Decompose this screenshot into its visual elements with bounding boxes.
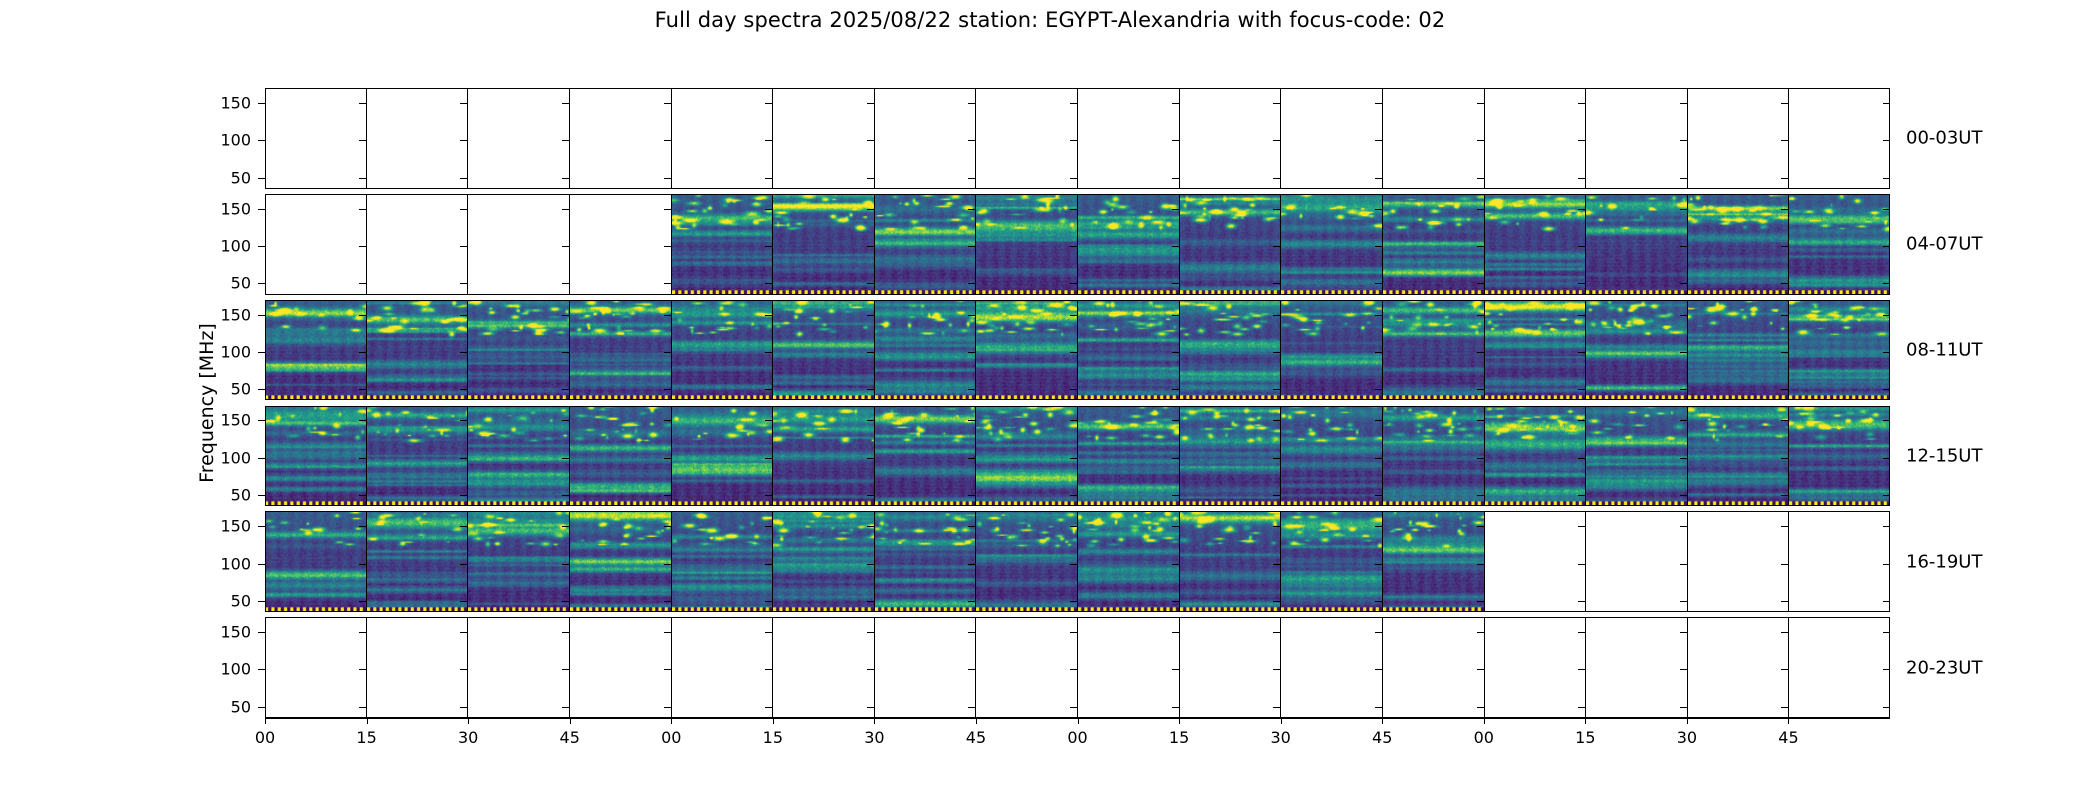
y-tick-mark — [1578, 389, 1585, 390]
y-tick-mark — [1477, 352, 1484, 353]
y-tick-mark — [359, 315, 366, 316]
spectra-panel[interactable] — [1383, 406, 1485, 507]
y-tick-label: 100 — [191, 342, 251, 361]
y-tick-mark — [1172, 601, 1179, 602]
spectra-panel[interactable] — [1281, 300, 1383, 401]
y-tick-mark — [1070, 103, 1077, 104]
y-tick-mark — [562, 140, 569, 141]
y-tick-mark — [562, 209, 569, 210]
y-tick-mark — [1578, 315, 1585, 316]
y-tick-label: 50 — [191, 591, 251, 610]
y-tick-mark — [460, 283, 467, 284]
y-tick-label: 150 — [191, 93, 251, 112]
spectra-panel[interactable] — [773, 300, 875, 401]
spectra-panel[interactable] — [265, 511, 367, 612]
spectra-panel[interactable] — [1688, 511, 1790, 612]
y-tick-mark — [258, 140, 265, 141]
y-tick-mark — [1680, 246, 1687, 247]
x-tick-label: 45 — [966, 728, 986, 747]
spectra-panel[interactable] — [672, 511, 774, 612]
y-tick-mark — [1070, 178, 1077, 179]
y-tick-mark — [1070, 632, 1077, 633]
spectra-panel[interactable] — [875, 511, 977, 612]
y-tick-mark — [867, 420, 874, 421]
y-tick-mark — [562, 707, 569, 708]
spectrogram-image — [875, 194, 976, 295]
spectra-panel[interactable] — [1485, 511, 1587, 612]
spectra-panel[interactable] — [773, 511, 875, 612]
spectrogram-image — [773, 300, 874, 401]
y-tick-mark — [1883, 315, 1890, 316]
y-tick-mark — [1273, 601, 1280, 602]
y-tick-mark — [562, 420, 569, 421]
spectra-panel[interactable] — [1383, 511, 1485, 612]
spectra-panel[interactable] — [875, 406, 977, 507]
y-tick-mark — [359, 564, 366, 565]
spectra-panel[interactable] — [976, 617, 1078, 718]
panel-strip — [265, 88, 1890, 189]
y-tick-mark — [460, 707, 467, 708]
y-tick-mark — [460, 458, 467, 459]
y-tick-mark — [258, 209, 265, 210]
y-tick-mark — [1578, 564, 1585, 565]
y-tick-mark — [664, 389, 671, 390]
spectra-panel[interactable] — [570, 406, 672, 507]
y-tick-mark — [1172, 526, 1179, 527]
y-tick-mark — [1070, 707, 1077, 708]
spectra-panel[interactable] — [1180, 511, 1282, 612]
y-tick-mark — [1070, 495, 1077, 496]
spectra-panel[interactable] — [1281, 88, 1383, 189]
y-tick-label: 100 — [191, 131, 251, 150]
spectrogram-image — [672, 511, 773, 612]
spectra-panel[interactable] — [1586, 88, 1688, 189]
y-tick-mark — [359, 140, 366, 141]
y-tick-mark — [968, 140, 975, 141]
spectra-panel[interactable] — [1485, 300, 1587, 401]
y-tick-mark — [1578, 601, 1585, 602]
y-tick-mark — [359, 389, 366, 390]
spectra-panel[interactable] — [468, 300, 570, 401]
y-tick-mark — [258, 389, 265, 390]
spectra-panel[interactable] — [468, 406, 570, 507]
spectra-panel[interactable] — [672, 617, 774, 718]
spectra-panel[interactable] — [773, 88, 875, 189]
y-tick-mark — [258, 632, 265, 633]
x-tick-label: 30 — [458, 728, 478, 747]
y-tick-mark — [664, 526, 671, 527]
y-tick-mark — [1883, 420, 1890, 421]
spectrogram-image — [1383, 511, 1484, 612]
y-tick-mark — [1477, 209, 1484, 210]
spectra-panel[interactable] — [367, 511, 469, 612]
spectra-panel[interactable] — [1383, 194, 1485, 295]
spectra-panel[interactable] — [672, 88, 774, 189]
y-tick-mark — [460, 103, 467, 104]
y-tick-mark — [1273, 178, 1280, 179]
spectra-panel[interactable] — [1586, 300, 1688, 401]
spectra-panel[interactable] — [570, 194, 672, 295]
spectra-panel[interactable] — [1078, 88, 1180, 189]
y-tick-mark — [460, 140, 467, 141]
spectra-panel[interactable] — [468, 617, 570, 718]
y-tick-mark — [1070, 352, 1077, 353]
spectra-panel[interactable] — [976, 88, 1078, 189]
spectra-panel[interactable] — [265, 617, 367, 718]
spectrogram-image — [367, 406, 468, 507]
spectrogram-image — [875, 406, 976, 507]
spectra-row: 15010050 — [265, 406, 1890, 507]
spectra-panel[interactable] — [976, 194, 1078, 295]
spectrogram-image — [367, 511, 468, 612]
y-tick-mark — [359, 420, 366, 421]
spectrogram-image — [468, 300, 569, 401]
spectrogram-image — [773, 406, 874, 507]
y-tick-mark — [1680, 564, 1687, 565]
y-tick-mark — [1781, 352, 1788, 353]
y-tick-mark — [258, 315, 265, 316]
y-tick-mark — [1578, 495, 1585, 496]
spectra-panel[interactable] — [1180, 88, 1282, 189]
y-tick-mark — [968, 103, 975, 104]
spectra-panel[interactable] — [875, 194, 977, 295]
spectra-panel[interactable] — [1383, 300, 1485, 401]
y-tick-mark — [867, 283, 874, 284]
y-tick-mark — [765, 283, 772, 284]
spectra-panel[interactable] — [773, 406, 875, 507]
y-tick-mark — [968, 246, 975, 247]
y-tick-mark — [1477, 283, 1484, 284]
spectra-panel[interactable] — [976, 406, 1078, 507]
spectra-panel[interactable] — [1688, 88, 1790, 189]
y-tick-mark — [968, 526, 975, 527]
spectra-panel[interactable] — [1586, 511, 1688, 612]
y-tick-mark — [1070, 526, 1077, 527]
y-tick-mark — [562, 526, 569, 527]
spectra-panel[interactable] — [1586, 406, 1688, 507]
spectra-panel[interactable] — [1485, 88, 1587, 189]
y-tick-mark — [562, 315, 569, 316]
spectra-panel[interactable] — [570, 617, 672, 718]
spectra-row: 15010050 — [265, 617, 1890, 718]
spectra-panel[interactable] — [468, 511, 570, 612]
spectrogram-image — [976, 300, 1077, 401]
y-tick-mark — [1172, 458, 1179, 459]
y-tick-mark — [359, 283, 366, 284]
y-tick-mark — [562, 352, 569, 353]
y-tick-mark — [258, 564, 265, 565]
row-label-20-23ut: 20-23UT — [1906, 657, 1982, 678]
y-tick-mark — [1477, 632, 1484, 633]
spectrogram-image — [265, 300, 366, 401]
spectra-panel[interactable] — [1078, 617, 1180, 718]
y-tick-mark — [664, 315, 671, 316]
x-tick-label: 00 — [1474, 728, 1494, 747]
spectra-panel[interactable] — [672, 300, 774, 401]
y-tick-label: 150 — [191, 517, 251, 536]
spectra-panel[interactable] — [875, 300, 977, 401]
y-tick-mark — [562, 669, 569, 670]
y-tick-mark — [1375, 246, 1382, 247]
spectra-panel[interactable] — [367, 300, 469, 401]
y-tick-label: 50 — [191, 380, 251, 399]
y-tick-label: 150 — [191, 411, 251, 430]
y-tick-mark — [359, 178, 366, 179]
spectrogram-image — [1078, 300, 1179, 401]
y-tick-mark — [1680, 315, 1687, 316]
y-tick-mark — [460, 209, 467, 210]
y-tick-mark — [562, 283, 569, 284]
spectrogram-image — [570, 511, 671, 612]
spectra-panel[interactable] — [1281, 511, 1383, 612]
y-tick-mark — [1172, 140, 1179, 141]
y-tick-mark — [1578, 420, 1585, 421]
y-tick-mark — [765, 669, 772, 670]
y-tick-mark — [765, 707, 772, 708]
spectra-panel[interactable] — [1789, 300, 1890, 401]
y-tick-label: 150 — [191, 305, 251, 324]
spectra-panel[interactable] — [1281, 617, 1383, 718]
x-tick-mark — [773, 718, 774, 724]
y-tick-mark — [359, 352, 366, 353]
spectra-panel[interactable] — [875, 617, 977, 718]
y-tick-mark — [1781, 178, 1788, 179]
spectra-panel[interactable] — [367, 194, 469, 295]
y-tick-mark — [968, 495, 975, 496]
y-tick-mark — [1680, 420, 1687, 421]
spectra-panel[interactable] — [1180, 406, 1282, 507]
y-tick-mark — [562, 564, 569, 565]
spectra-panel[interactable] — [672, 406, 774, 507]
y-tick-mark — [1578, 246, 1585, 247]
y-tick-mark — [1477, 420, 1484, 421]
spectrogram-image — [1688, 194, 1789, 295]
y-tick-mark — [562, 632, 569, 633]
spectra-panel[interactable] — [1383, 617, 1485, 718]
spectrogram-image — [1383, 406, 1484, 507]
y-tick-mark — [867, 140, 874, 141]
y-tick-mark — [1273, 669, 1280, 670]
y-tick-mark — [765, 389, 772, 390]
y-tick-mark — [1172, 352, 1179, 353]
spectra-panel[interactable] — [1688, 300, 1790, 401]
spectra-panel[interactable] — [1485, 194, 1587, 295]
y-tick-mark — [867, 315, 874, 316]
y-tick-mark — [1781, 315, 1788, 316]
spectra-panel[interactable] — [1789, 511, 1890, 612]
y-tick-mark — [765, 564, 772, 565]
y-tick-mark — [968, 315, 975, 316]
figure-root: Full day spectra 2025/08/22 station: EGY… — [0, 0, 2100, 800]
y-tick-mark — [460, 526, 467, 527]
spectrogram-image — [1078, 194, 1179, 295]
y-tick-mark — [664, 352, 671, 353]
spectra-panel[interactable] — [1789, 406, 1890, 507]
y-tick-mark — [1273, 209, 1280, 210]
x-tick-label: 00 — [661, 728, 681, 747]
spectrogram-image — [1485, 194, 1586, 295]
y-tick-mark — [258, 283, 265, 284]
spectra-panel[interactable] — [1485, 617, 1587, 718]
y-tick-mark — [765, 495, 772, 496]
y-tick-mark — [460, 495, 467, 496]
y-tick-mark — [258, 352, 265, 353]
y-tick-mark — [1680, 707, 1687, 708]
spectra-panel[interactable] — [468, 88, 570, 189]
y-tick-mark — [1883, 526, 1890, 527]
y-tick-mark — [460, 389, 467, 390]
spectra-panel[interactable] — [1688, 406, 1790, 507]
spectrogram-image — [875, 511, 976, 612]
y-tick-mark — [1172, 495, 1179, 496]
y-tick-mark — [1781, 526, 1788, 527]
spectrogram-image — [773, 511, 874, 612]
spectra-panel[interactable] — [1281, 406, 1383, 507]
y-tick-mark — [1375, 178, 1382, 179]
y-tick-mark — [1680, 178, 1687, 179]
spectra-panel[interactable] — [1688, 617, 1790, 718]
spectrogram-image — [773, 194, 874, 295]
x-tick-mark — [976, 718, 977, 724]
spectra-panel[interactable] — [976, 300, 1078, 401]
spectra-panel[interactable] — [265, 88, 367, 189]
y-tick-mark — [1680, 458, 1687, 459]
spectra-panel[interactable] — [1180, 617, 1282, 718]
y-tick-mark — [460, 178, 467, 179]
spectra-panel[interactable] — [1180, 194, 1282, 295]
spectrogram-image — [1688, 406, 1789, 507]
y-tick-mark — [1375, 669, 1382, 670]
x-tick-mark — [1382, 718, 1383, 724]
spectra-panel[interactable] — [570, 511, 672, 612]
y-tick-mark — [1578, 632, 1585, 633]
y-tick-label: 100 — [191, 237, 251, 256]
y-tick-mark — [1883, 495, 1890, 496]
spectra-panel[interactable] — [773, 617, 875, 718]
y-tick-mark — [968, 458, 975, 459]
y-tick-mark — [460, 315, 467, 316]
y-tick-mark — [359, 458, 366, 459]
x-tick-mark — [1078, 718, 1079, 724]
spectra-row: 15010050 — [265, 300, 1890, 401]
y-tick-mark — [664, 140, 671, 141]
x-tick-mark — [1179, 718, 1180, 724]
spectra-panel[interactable] — [1789, 88, 1890, 189]
spectra-panel[interactable] — [875, 88, 977, 189]
y-tick-mark — [1578, 283, 1585, 284]
y-tick-mark — [1070, 140, 1077, 141]
spectra-panel[interactable] — [265, 300, 367, 401]
y-tick-mark — [1273, 458, 1280, 459]
spectrogram-image — [1586, 300, 1687, 401]
y-tick-mark — [968, 669, 975, 670]
spectra-panel[interactable] — [773, 194, 875, 295]
spectra-panel[interactable] — [1586, 617, 1688, 718]
y-tick-mark — [1781, 669, 1788, 670]
spectra-panel[interactable] — [367, 88, 469, 189]
y-tick-mark — [1273, 420, 1280, 421]
y-tick-mark — [359, 601, 366, 602]
spectra-panel[interactable] — [976, 511, 1078, 612]
spectra-panel[interactable] — [265, 406, 367, 507]
spectrogram-image — [468, 406, 569, 507]
spectra-panel[interactable] — [1586, 194, 1688, 295]
y-tick-mark — [867, 209, 874, 210]
y-tick-mark — [1883, 601, 1890, 602]
spectra-panel[interactable] — [1485, 406, 1587, 507]
y-tick-mark — [1680, 209, 1687, 210]
y-tick-mark — [562, 178, 569, 179]
spectra-panel[interactable] — [1688, 194, 1790, 295]
y-tick-mark — [1477, 246, 1484, 247]
y-tick-mark — [1172, 209, 1179, 210]
spectra-panel[interactable] — [265, 194, 367, 295]
spectra-panel[interactable] — [1180, 300, 1282, 401]
spectra-panel[interactable] — [1789, 194, 1890, 295]
spectrogram-image — [976, 406, 1077, 507]
spectrogram-image — [1078, 406, 1179, 507]
y-tick-mark — [1070, 564, 1077, 565]
y-tick-mark — [1477, 707, 1484, 708]
x-tick-mark — [570, 718, 571, 724]
x-tick-label: 15 — [1575, 728, 1595, 747]
spectra-panel[interactable] — [1789, 617, 1890, 718]
x-tick-label: 45 — [1778, 728, 1798, 747]
y-tick-mark — [1578, 352, 1585, 353]
spectra-panel[interactable] — [367, 617, 469, 718]
y-tick-mark — [1680, 389, 1687, 390]
spectra-panel[interactable] — [570, 88, 672, 189]
y-tick-mark — [1781, 140, 1788, 141]
y-tick-mark — [664, 209, 671, 210]
spectra-panel[interactable] — [1078, 300, 1180, 401]
y-tick-mark — [562, 246, 569, 247]
y-tick-mark — [1172, 103, 1179, 104]
spectra-row: 15010050 — [265, 511, 1890, 612]
y-tick-mark — [1375, 283, 1382, 284]
spectrogram-image — [367, 300, 468, 401]
y-tick-mark — [1273, 352, 1280, 353]
spectra-panel[interactable] — [1281, 194, 1383, 295]
y-tick-mark — [460, 564, 467, 565]
spectra-panel[interactable] — [1078, 194, 1180, 295]
y-tick-mark — [867, 458, 874, 459]
y-tick-mark — [664, 458, 671, 459]
y-tick-mark — [1172, 420, 1179, 421]
spectra-panel[interactable] — [672, 194, 774, 295]
y-tick-mark — [1883, 209, 1890, 210]
y-tick-mark — [1883, 564, 1890, 565]
y-tick-mark — [1781, 246, 1788, 247]
y-tick-mark — [1477, 178, 1484, 179]
spectra-panel[interactable] — [367, 406, 469, 507]
spectra-panel[interactable] — [1078, 406, 1180, 507]
y-tick-mark — [258, 178, 265, 179]
spectra-panel[interactable] — [1078, 511, 1180, 612]
row-label-16-19ut: 16-19UT — [1906, 551, 1982, 572]
spectra-panel[interactable] — [1383, 88, 1485, 189]
y-tick-mark — [664, 601, 671, 602]
y-tick-mark — [867, 632, 874, 633]
y-tick-mark — [765, 103, 772, 104]
spectra-panel[interactable] — [570, 300, 672, 401]
figure-title: Full day spectra 2025/08/22 station: EGY… — [0, 8, 2100, 32]
y-tick-mark — [1273, 140, 1280, 141]
y-tick-mark — [1781, 632, 1788, 633]
y-tick-mark — [562, 601, 569, 602]
spectra-panel[interactable] — [468, 194, 570, 295]
y-tick-mark — [867, 103, 874, 104]
